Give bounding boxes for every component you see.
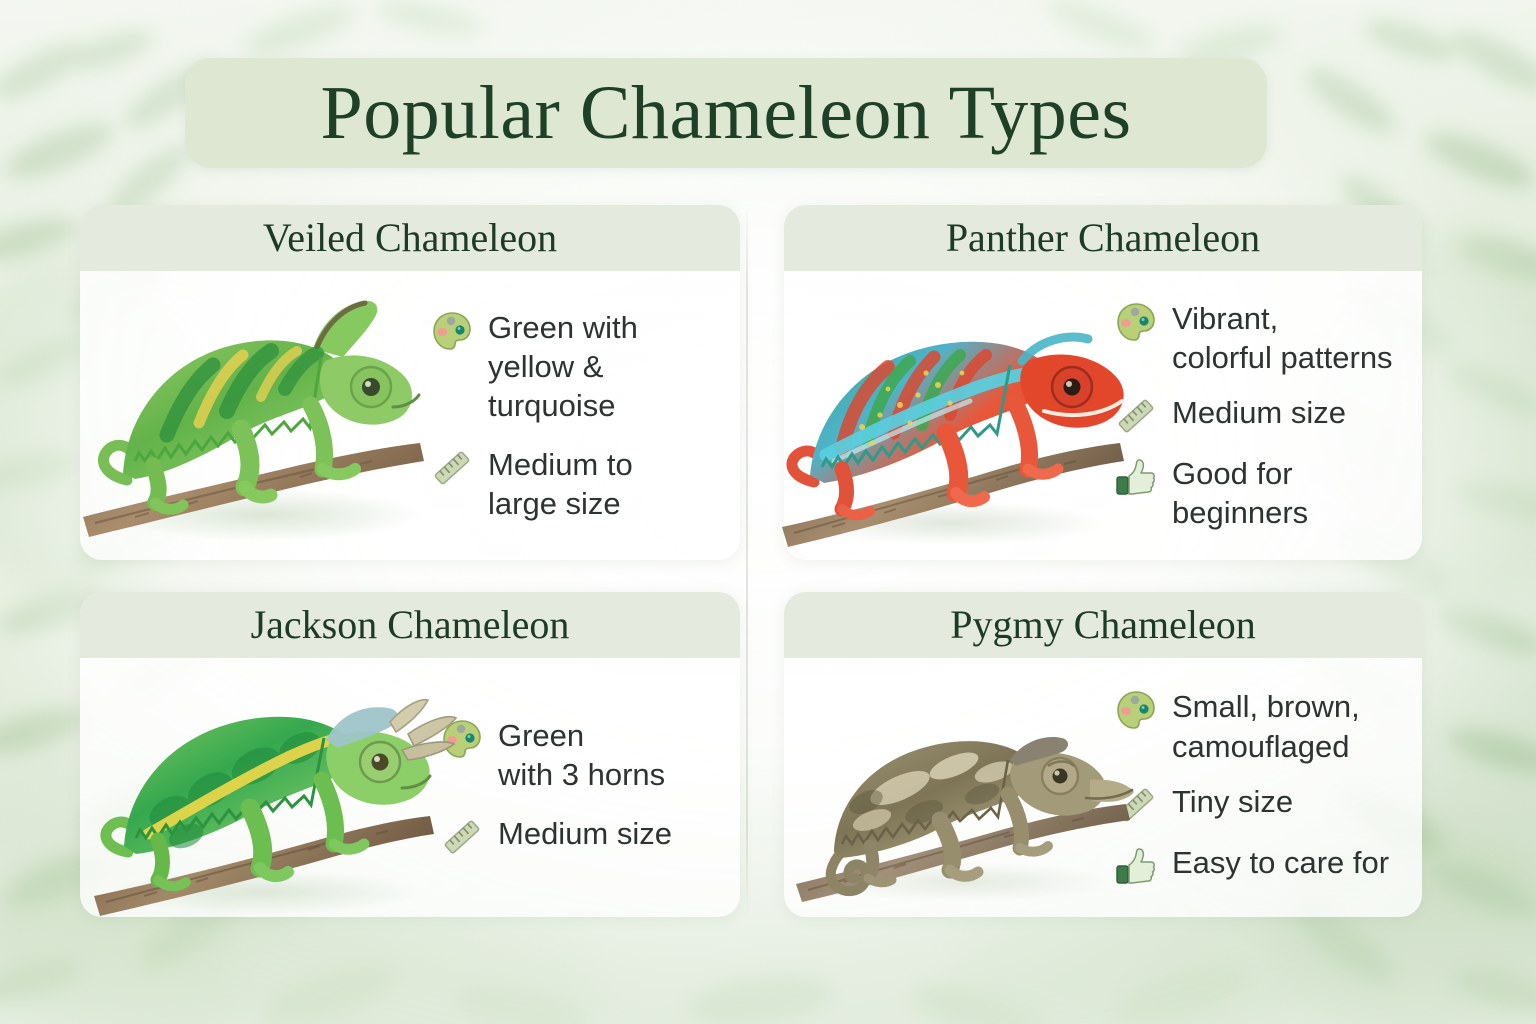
- card-pygmy-title: Pygmy Chameleon: [950, 605, 1256, 645]
- jackson-chameleon-photo: [80, 658, 440, 917]
- feature-row: Green with yellow & turquoise: [430, 308, 728, 425]
- card-jackson-title: Jackson Chameleon: [251, 605, 570, 645]
- feature-text: Small, brown, camouflaged: [1172, 687, 1360, 765]
- feature-row: Small, brown, camouflaged: [1114, 687, 1410, 765]
- feature-row: Medium size: [440, 814, 728, 859]
- card-veiled[interactable]: Veiled Chameleon: [80, 205, 740, 560]
- card-jackson-header: Jackson Chameleon: [80, 592, 740, 658]
- feature-row: Easy to care for: [1114, 843, 1410, 888]
- card-panther-features: Vibrant, colorful patterns: [1114, 271, 1422, 560]
- card-veiled-features: Green with yellow & turquoise: [430, 271, 740, 560]
- card-veiled-header: Veiled Chameleon: [80, 205, 740, 271]
- card-panther-title: Panther Chameleon: [946, 218, 1260, 258]
- card-jackson[interactable]: Jackson Chameleon: [80, 592, 740, 917]
- card-veiled-title: Veiled Chameleon: [263, 218, 557, 258]
- feature-text: Green with 3 horns: [498, 716, 665, 794]
- feature-row: Vibrant, colorful patterns: [1114, 299, 1410, 377]
- feature-text: Medium size: [498, 814, 672, 853]
- feature-row: Tiny size: [1114, 782, 1410, 827]
- feature-row: Green with 3 horns: [440, 716, 728, 794]
- feature-text: Medium size: [1172, 393, 1346, 432]
- column-divider: [746, 205, 748, 915]
- feature-text: Good for beginners: [1172, 454, 1308, 532]
- card-jackson-features: Green with 3 horns Mediu: [440, 658, 740, 917]
- card-panther-header: Panther Chameleon: [784, 205, 1422, 271]
- feature-text: Tiny size: [1172, 782, 1293, 821]
- feature-row: Medium size: [1114, 393, 1410, 438]
- veiled-chameleon-photo: [80, 271, 430, 560]
- card-pygmy-features: Small, brown, camouflaged: [1114, 658, 1422, 917]
- feature-text: Vibrant, colorful patterns: [1172, 299, 1393, 377]
- page-title: Popular Chameleon Types: [320, 75, 1131, 151]
- pygmy-chameleon-photo: [784, 658, 1114, 917]
- card-pygmy-header: Pygmy Chameleon: [784, 592, 1422, 658]
- card-pygmy[interactable]: Pygmy Chameleon: [784, 592, 1422, 917]
- feature-text: Easy to care for: [1172, 843, 1389, 882]
- feature-text: Medium to large size: [488, 445, 633, 523]
- feature-text: Green with yellow & turquoise: [488, 308, 728, 425]
- feature-row: Good for beginners: [1114, 454, 1410, 532]
- feature-row: Medium to large size: [430, 445, 728, 523]
- panther-chameleon-photo: [784, 271, 1114, 560]
- page-title-banner: Popular Chameleon Types: [185, 58, 1267, 168]
- card-panther[interactable]: Panther Chameleon: [784, 205, 1422, 560]
